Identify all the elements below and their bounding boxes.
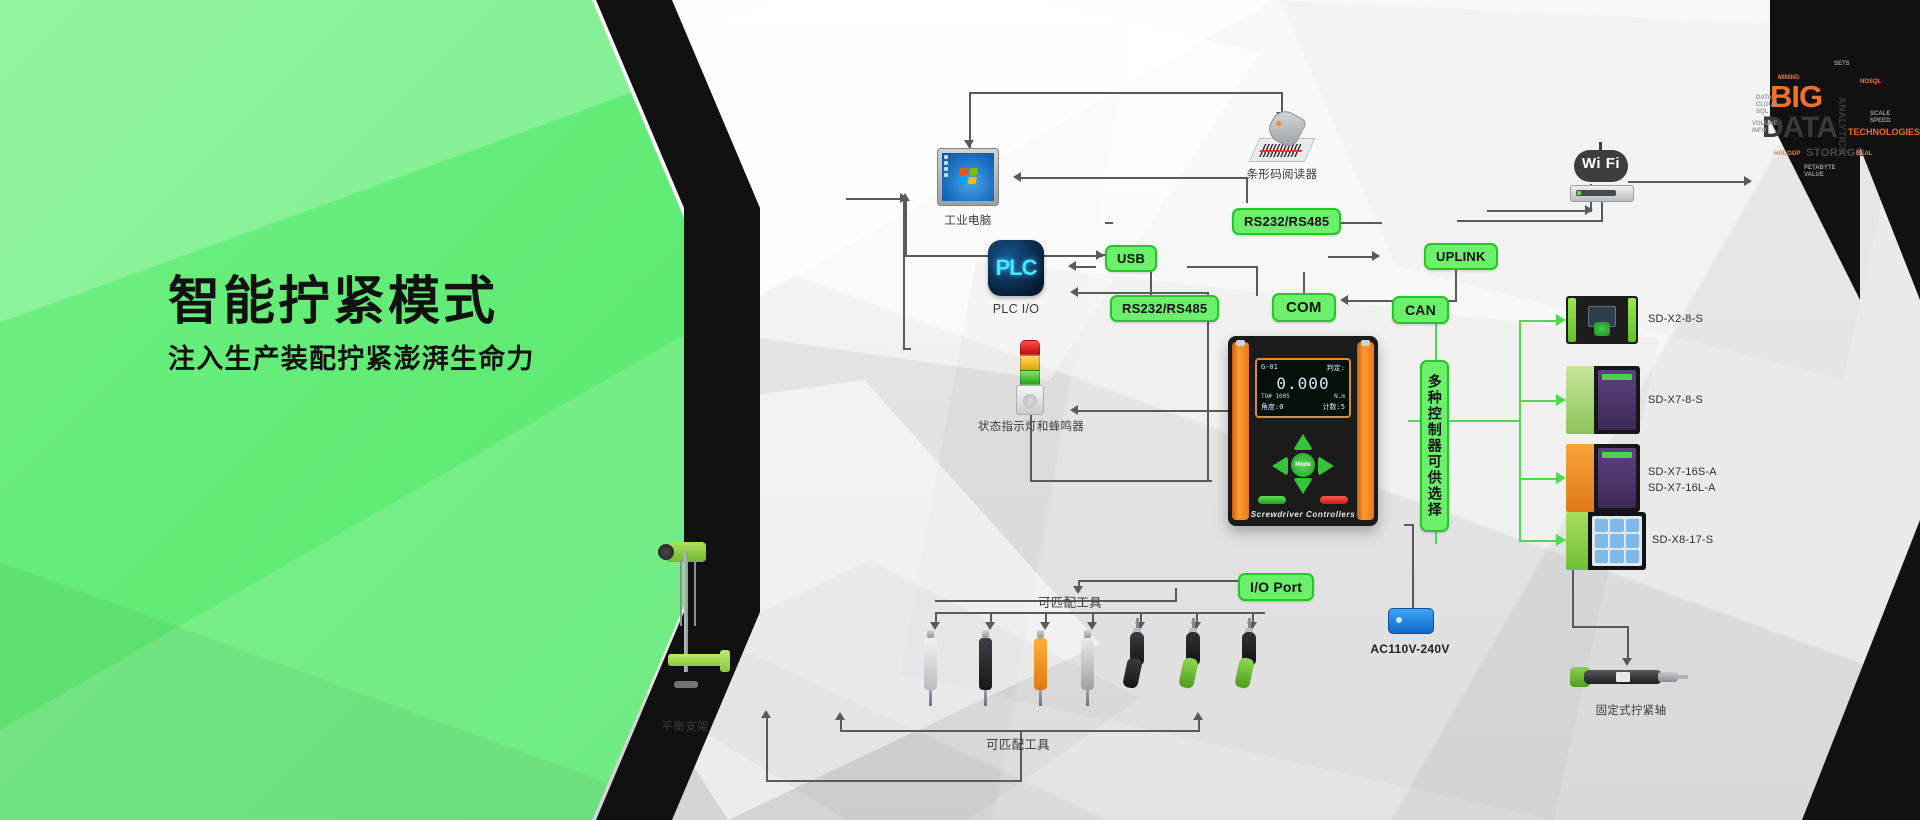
dpad-right-button[interactable]	[1318, 456, 1334, 476]
controller-sd-x8[interactable]	[1566, 512, 1646, 570]
balance-arm-label: 平衡支架	[637, 718, 733, 734]
wifi-icon: Wi Fi	[1568, 150, 1634, 202]
matching-tools-top-label: 可匹配工具	[1020, 592, 1120, 611]
stack-light-node[interactable]	[1016, 340, 1044, 412]
barcode-reader-label: 条形码阅读器	[1222, 166, 1342, 182]
screwdriver-gun-3[interactable]	[1234, 632, 1268, 694]
model-label-3: SD-X7-16L-A	[1648, 482, 1716, 494]
power-adapter-icon	[1388, 608, 1434, 634]
fixed-spindle-icon[interactable]	[1570, 662, 1688, 692]
banner-canvas: 智能拧紧模式 注入生产装配拧紧澎湃生命力	[0, 0, 1920, 820]
wifi-label: Wi Fi	[1574, 155, 1628, 172]
controller-button-row	[1258, 496, 1348, 504]
matching-tools-bottom-label: 可匹配工具	[968, 734, 1068, 753]
pill-rs232-left[interactable]: RS232/RS485	[1110, 295, 1219, 322]
lcd-program: TO# 1005	[1261, 393, 1290, 400]
lcd-unit: N.m	[1334, 393, 1345, 400]
mode-button[interactable]: Mode	[1291, 453, 1315, 477]
dpad-up-button[interactable]	[1293, 434, 1313, 450]
dpad-down-button[interactable]	[1293, 478, 1313, 494]
plc-io-label: PLC I/O	[978, 302, 1054, 316]
lcd-channel: G-01	[1261, 363, 1278, 373]
controller-sd-x7-8s[interactable]	[1566, 366, 1640, 434]
pill-uplink[interactable]: UPLINK	[1424, 243, 1498, 270]
fixed-spindle-label: 固定式拧紧轴	[1566, 702, 1696, 718]
plc-icon: PLC	[988, 240, 1044, 296]
dpad-left-button[interactable]	[1272, 456, 1288, 476]
pill-io-port[interactable]: I/O Port	[1238, 573, 1314, 601]
stack-light-label: 状态指示灯和蜂鸣器	[955, 418, 1107, 434]
wifi-router-node[interactable]: Wi Fi	[1568, 150, 1634, 202]
screwdriver-tool-4[interactable]	[1079, 630, 1096, 706]
system-diagram: 工业电脑 条形码阅读器 PLC PLC I/O 状态指示灯和蜂鸣器 Wi Fi	[0, 0, 1920, 820]
screwdriver-tool-3[interactable]	[1032, 630, 1049, 706]
lcd-angle: 角度:0	[1261, 402, 1283, 412]
model-label-2: SD-X7-16S-A	[1648, 466, 1717, 478]
pill-can[interactable]: CAN	[1392, 296, 1449, 324]
screwdriver-gun-1[interactable]	[1122, 632, 1156, 694]
screwdriver-tool-1[interactable]	[922, 630, 939, 706]
big-data-cloud: BIG DATA STORAGE ANALYTICS TECHNOLOGIES …	[1748, 55, 1898, 185]
controller-lcd: G-01 判定: 0.000 TO# 1005 N.m 角度:0 计数:5	[1255, 358, 1351, 418]
balance-arm-icon[interactable]	[640, 538, 732, 688]
pill-usb[interactable]: USB	[1105, 245, 1157, 272]
main-controller[interactable]: G-01 判定: 0.000 TO# 1005 N.m 角度:0 计数:5	[1228, 336, 1378, 526]
pill-controller-selector[interactable]: 多种控制器可供选择	[1420, 360, 1449, 532]
controller-sd-x7-16[interactable]	[1566, 444, 1640, 512]
lcd-count: 计数:5	[1323, 402, 1345, 412]
controller-sd-x2[interactable]	[1566, 296, 1638, 344]
monitor-icon	[937, 148, 999, 206]
plc-node[interactable]: PLC	[988, 240, 1044, 296]
controller-brand-label: Screwdriver Controllers	[1228, 510, 1378, 519]
pill-rs232-top[interactable]: RS232/RS485	[1232, 208, 1341, 235]
screwdriver-tool-2[interactable]	[977, 630, 994, 706]
model-label-4: SD-X8-17-S	[1652, 534, 1713, 546]
power-supply-node[interactable]	[1388, 608, 1434, 634]
bigdata-word-big: BIG	[1770, 79, 1822, 115]
bigdata-word-technologies: TECHNOLOGIES	[1848, 127, 1920, 137]
model-label-1: SD-X7-8-S	[1648, 394, 1703, 406]
pill-com[interactable]: COM	[1272, 293, 1336, 322]
barcode-reader-node[interactable]	[1250, 112, 1312, 162]
screwdriver-gun-2[interactable]	[1178, 632, 1212, 694]
barcode-scanner-icon	[1250, 112, 1312, 162]
controller-dpad[interactable]: Mode	[1272, 434, 1334, 494]
lcd-torque-value: 0.000	[1261, 374, 1345, 393]
power-label: AC110V-240V	[1345, 642, 1475, 656]
lcd-judge: 判定:	[1327, 363, 1345, 373]
return-button[interactable]	[1258, 496, 1286, 504]
industrial-pc-label: 工业电脑	[923, 212, 1013, 228]
power-button[interactable]	[1320, 496, 1348, 504]
bigdata-word-analytics: ANALYTICS	[1836, 97, 1847, 153]
stack-light-icon	[1016, 340, 1044, 412]
model-label-0: SD-X2-8-S	[1648, 313, 1703, 325]
industrial-pc-node[interactable]	[937, 148, 999, 206]
